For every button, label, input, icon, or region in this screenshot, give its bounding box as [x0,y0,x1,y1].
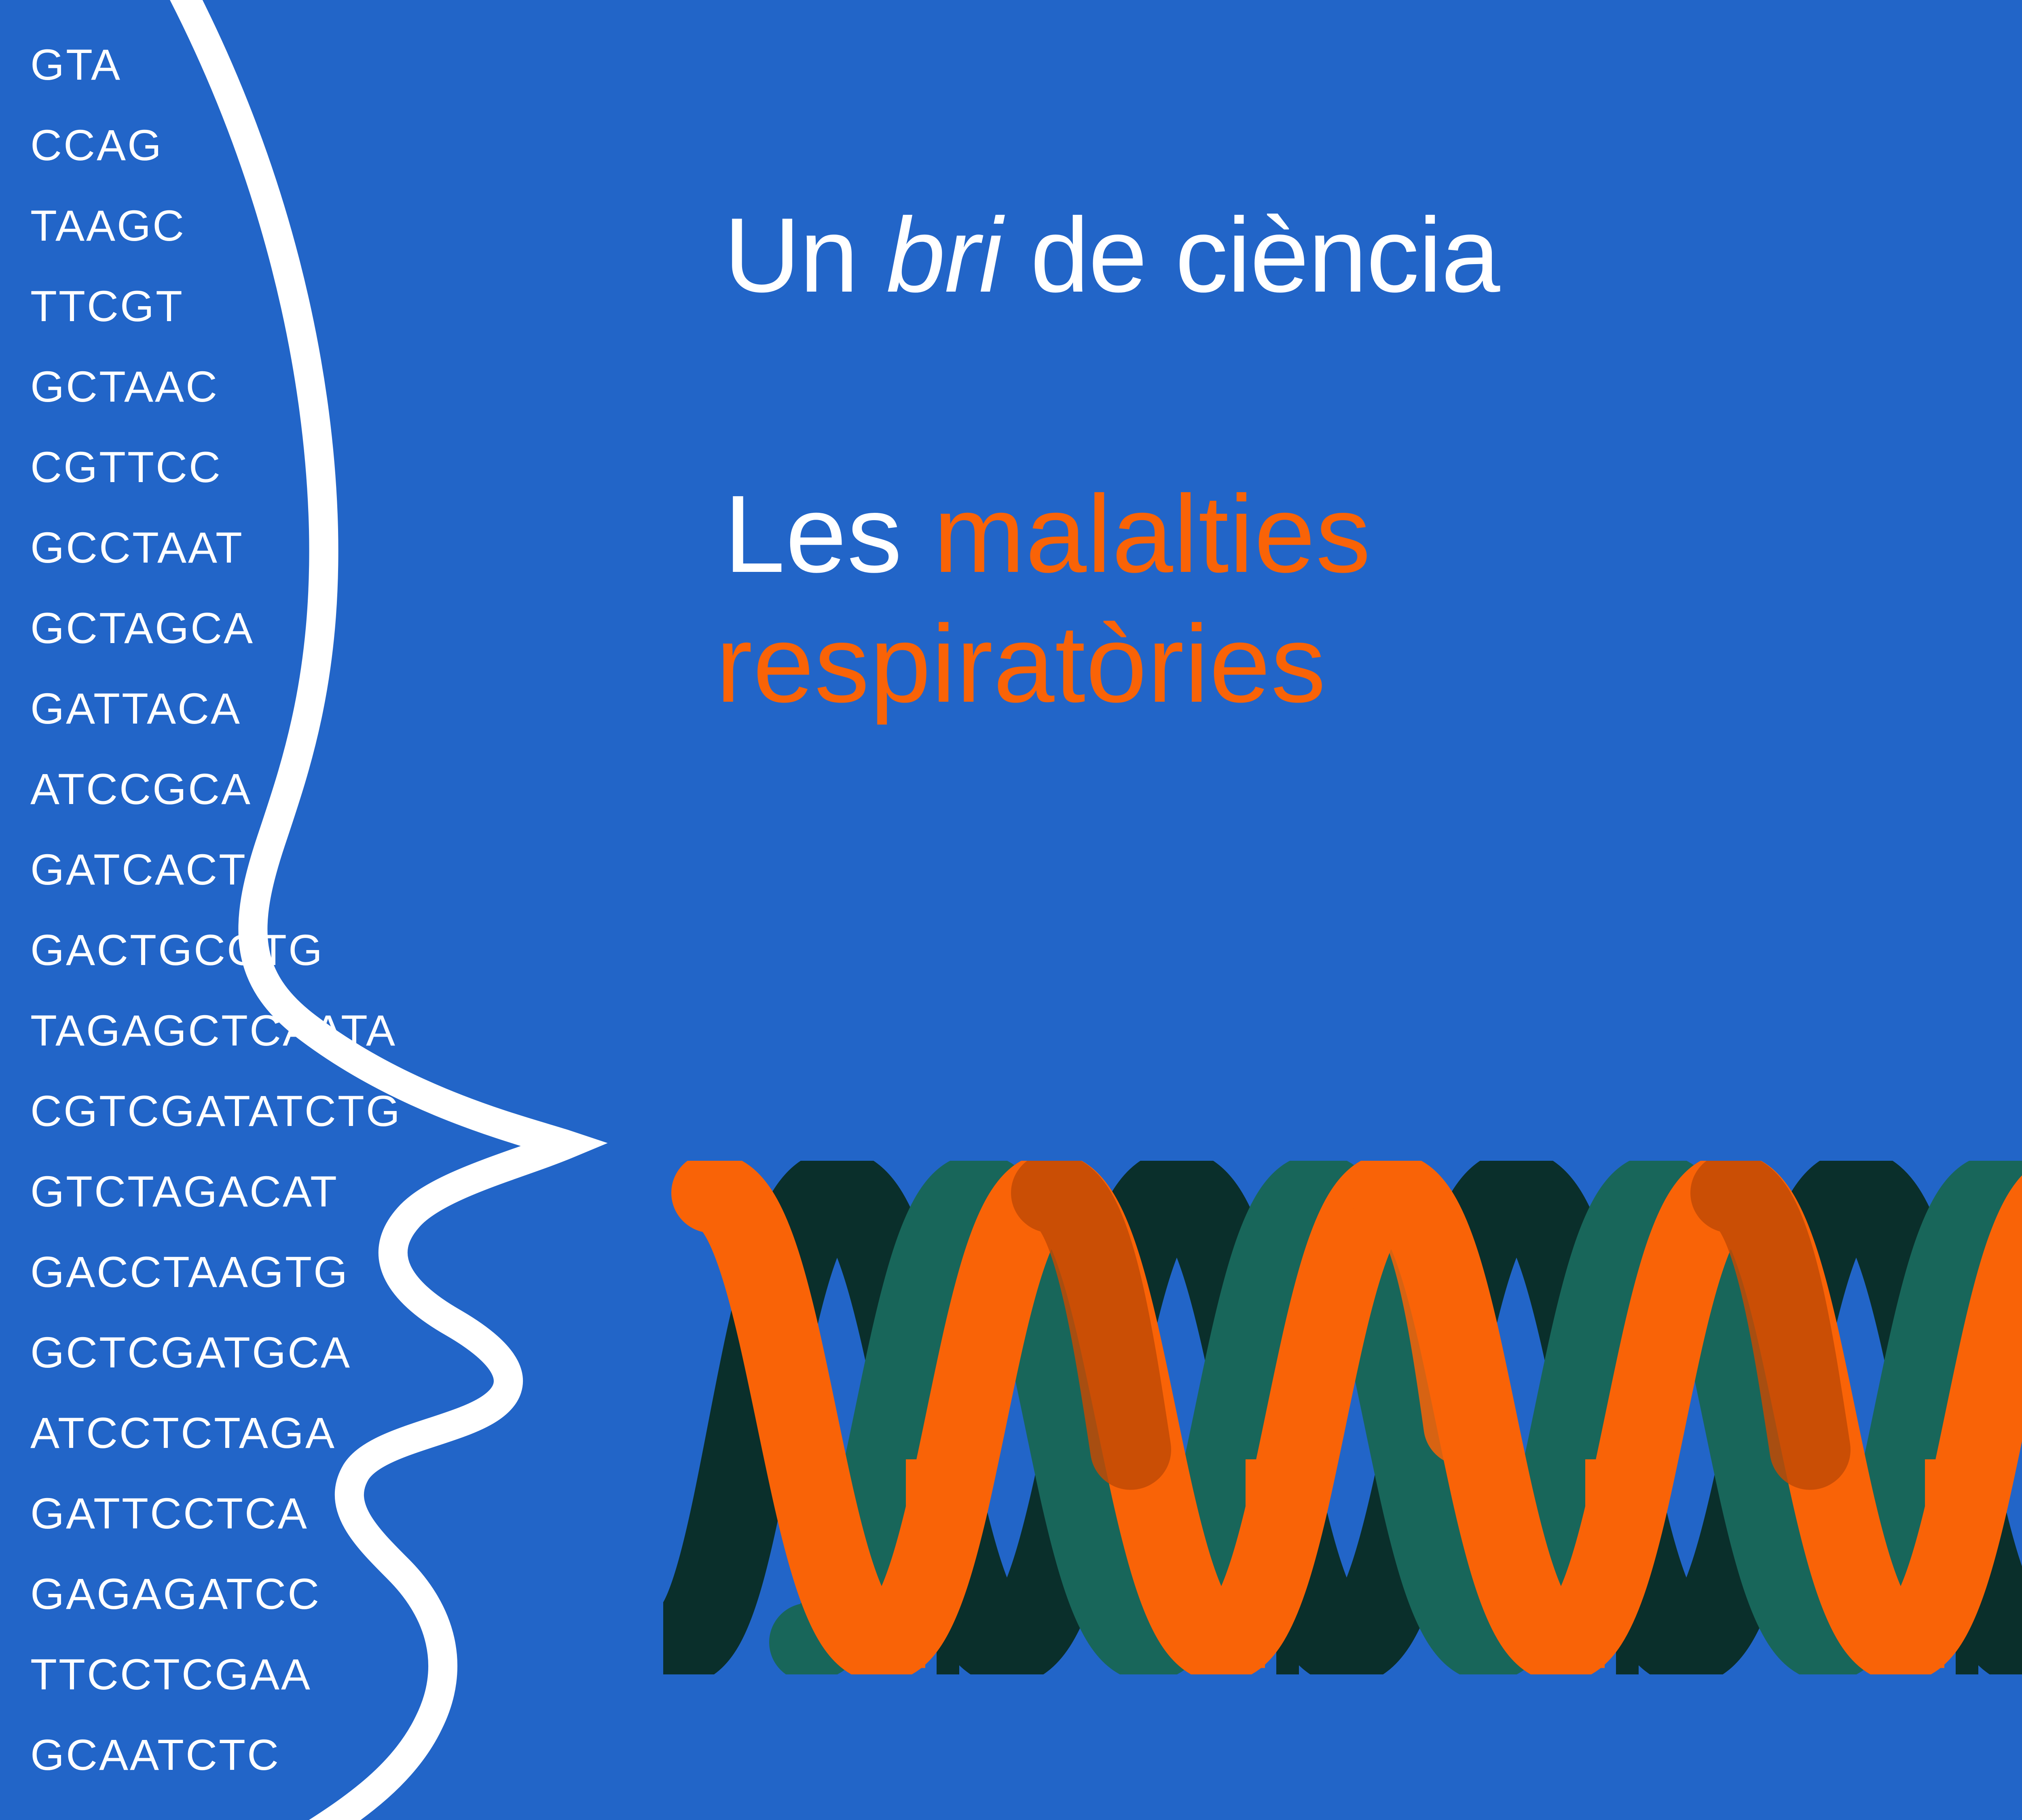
dna-sequence-line: GATTCCTCA [30,1473,566,1553]
programme-title-emphasis: bri [886,196,1002,314]
headline-word-respiratories: respiratòries [716,599,1371,729]
dna-sequence-line: GATCACT [30,829,566,910]
headline-word-malalties: malalties [933,472,1371,595]
dna-sequence-line: GCTCGATGCA [30,1312,566,1393]
dna-sequence-line: GCAATCTC [30,1714,566,1795]
dna-sequence-line: GTCTAGACAT [30,1151,566,1232]
dna-sequence-line: GCTAGCA [30,588,566,668]
dna-helix-illustration [663,1161,2022,1674]
dna-sequence-line: TTCCTCGAA [30,1634,566,1714]
dna-sequence-line: CCAG [30,105,566,185]
dna-sequence-line: GAGAGATCC [30,1553,566,1634]
dna-sequence-line: GCTAAC [30,346,566,427]
dna-sequence-line: TAAGC [30,185,566,266]
poster-canvas: GTA CCAG TAAGC TTCGT GCTAAC CGTTCC GCCTA… [0,0,2022,1820]
programme-title-suffix: de ciència [1002,196,1500,314]
page-title: Les malaltiesrespiratòries [724,469,1371,729]
dna-sequence-line: GTA [30,24,566,105]
headline-word-les: Les [724,472,933,595]
dna-sequence-line: GATTACA [30,668,566,749]
dna-sequence-line: CGTCGATATCTG [30,1071,566,1151]
dna-sequence-line: GACCTAAGTG [30,1232,566,1312]
dna-sequence-line: ATCCGCA [30,749,566,829]
dna-sequence-line: ATCCTCTAGA [30,1393,566,1473]
dna-sequence-line: GACTGCCTG [30,910,566,990]
dna-sequence-list: GTA CCAG TAAGC TTCGT GCTAAC CGTTCC GCCTA… [0,0,566,1820]
programme-title-prefix: Un [724,196,886,314]
dna-sequence-line: TTCGT [30,266,566,346]
dna-sequence-line: CGTTCC [30,427,566,507]
programme-title: Un bri de ciència [724,194,1499,316]
dna-sequence-line: GCCTAAT [30,507,566,588]
dna-sequence-line: TAGAGCTCAATA [30,990,566,1071]
